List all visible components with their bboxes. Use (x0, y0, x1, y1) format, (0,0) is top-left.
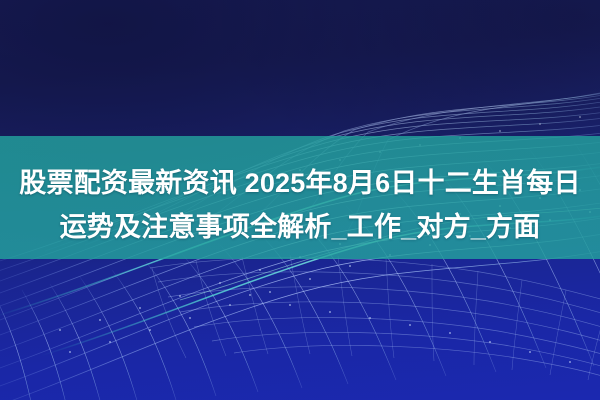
headline-line-2: 运势及注意事项全解析_工作_对方_方面 (0, 205, 600, 249)
headline-text: 股票配资最新资讯 2025年8月6日十二生肖每日 运势及注意事项全解析_工作_对… (0, 161, 600, 249)
headline-banner: 股票配资最新资讯 2025年8月6日十二生肖每日 运势及注意事项全解析_工作_对… (0, 0, 600, 400)
headline-line-1: 股票配资最新资讯 2025年8月6日十二生肖每日 (0, 161, 600, 205)
